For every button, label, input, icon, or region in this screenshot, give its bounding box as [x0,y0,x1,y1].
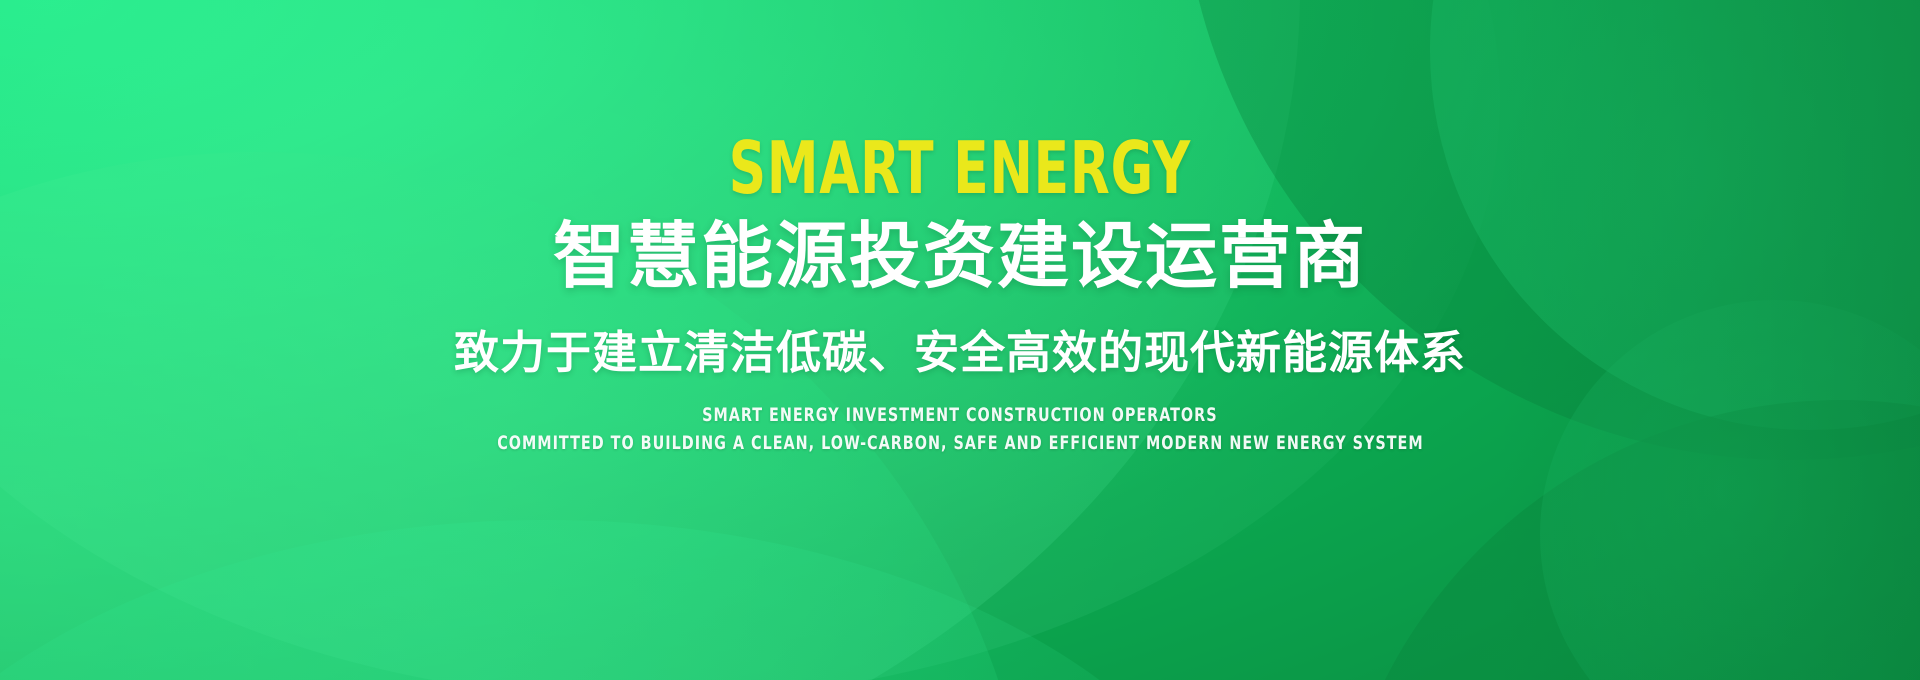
banner-english-caption-line-1: SMART ENERGY INVESTMENT CONSTRUCTION OPE… [702,404,1217,426]
banner-subheadline-chinese: 致力于建立清洁低碳、安全高效的现代新能源体系 [454,328,1466,378]
hero-banner: SMART ENERGY 智慧能源投资建设运营商 致力于建立清洁低碳、安全高效的… [0,0,1920,680]
banner-eyebrow-english-title: SMART ENERGY [729,132,1191,204]
banner-headline-chinese: 智慧能源投资建设运营商 [553,218,1367,294]
banner-english-caption-line-2: COMMITTED TO BUILDING A CLEAN, LOW-CARBO… [497,432,1423,454]
banner-content: SMART ENERGY 智慧能源投资建设运营商 致力于建立清洁低碳、安全高效的… [0,0,1920,680]
